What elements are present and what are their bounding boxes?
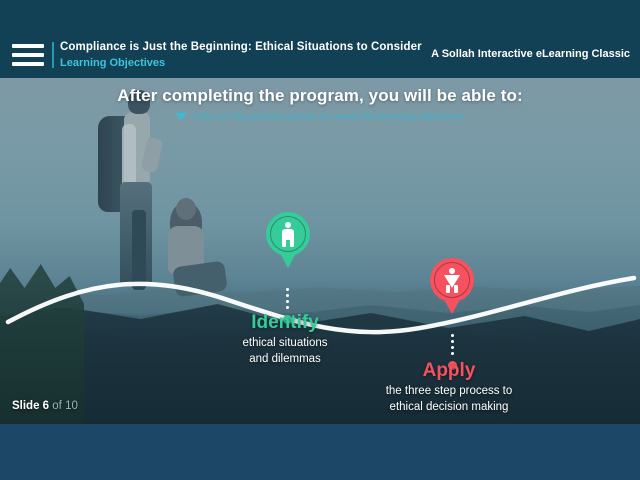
objective-title: Apply (358, 360, 540, 382)
hamburger-menu-icon[interactable] (12, 44, 44, 66)
pin-bubble (266, 212, 310, 256)
background-photo (0, 78, 640, 424)
slide-current: Slide 6 (12, 400, 49, 412)
map-pin-identify[interactable] (266, 212, 310, 256)
page-title: After completing the program, you will b… (0, 86, 640, 106)
slide-counter: Slide 6 of 10 (12, 400, 78, 412)
objective-label-apply[interactable]: Apply the three step process to ethical … (358, 360, 540, 414)
objective-label-identify[interactable]: Identify ethical situations and dilemmas (195, 312, 375, 366)
slide-stage: After completing the program, you will b… (0, 0, 640, 480)
map-pin-person-female-icon (443, 268, 461, 292)
course-title: Compliance is Just the Beginning: Ethica… (60, 40, 422, 54)
slide-total: of 10 (52, 400, 78, 412)
objective-desc-line2: ethical decision making (358, 400, 540, 414)
headline-block: After completing the program, you will b… (0, 86, 640, 122)
pin-bubble (430, 258, 474, 302)
top-header-bar: Compliance is Just the Beginning: Ethica… (0, 0, 640, 78)
seated-person-silhouette (160, 198, 230, 308)
instruction-row: Click on the position points to reveal t… (0, 111, 640, 122)
objective-desc-line1: the three step process to (358, 384, 540, 398)
course-section: Learning Objectives (60, 56, 422, 71)
bottom-bar (0, 424, 640, 480)
map-pin-apply[interactable] (430, 258, 474, 302)
instruction-text: Click on the position points to reveal t… (193, 111, 465, 122)
objective-title: Identify (195, 312, 375, 334)
brand-label: A Sollah Interactive eLearning Classic (431, 48, 630, 60)
objective-desc-line2: and dilemmas (195, 352, 375, 366)
chevron-down-icon (175, 113, 187, 120)
map-pin-person-icon (279, 222, 297, 246)
header-title-group: Compliance is Just the Beginning: Ethica… (60, 40, 422, 71)
header-divider (52, 42, 54, 68)
objective-desc-line1: ethical situations (195, 336, 375, 350)
